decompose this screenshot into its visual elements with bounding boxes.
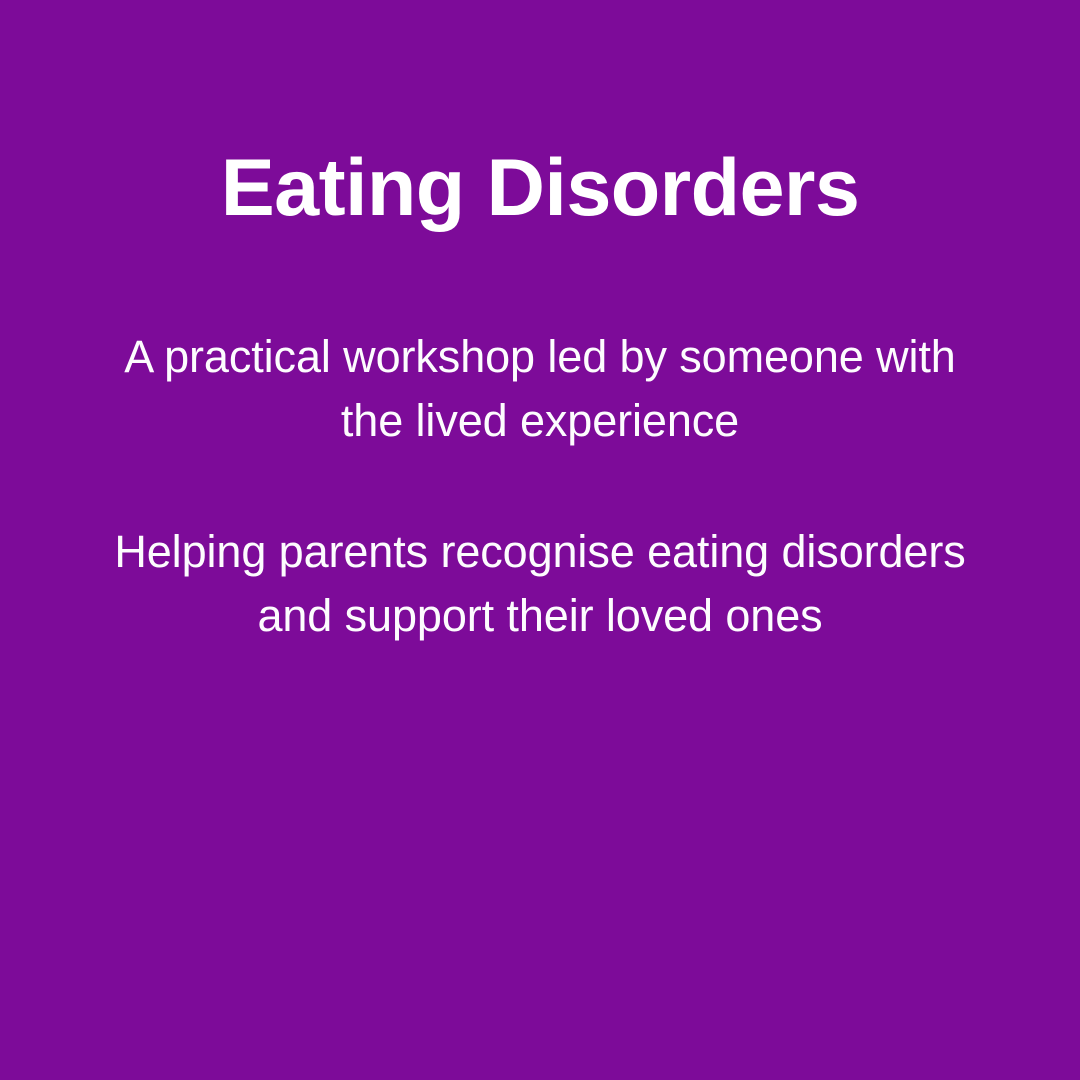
workshop-intro-line-2: the lived experience: [52, 389, 1028, 453]
promotional-slide: Eating Disorders A practical workshop le…: [0, 0, 1080, 1080]
workshop-purpose-line-2: and support their loved ones: [52, 584, 1028, 648]
workshop-intro-paragraph: A practical workshop led by someone with…: [0, 325, 1080, 453]
page-title: Eating Disorders: [0, 140, 1080, 236]
workshop-purpose-line-1: Helping parents recognise eating disorde…: [52, 520, 1028, 584]
workshop-intro-line-1: A practical workshop led by someone with: [52, 325, 1028, 389]
workshop-purpose-paragraph: Helping parents recognise eating disorde…: [0, 520, 1080, 648]
